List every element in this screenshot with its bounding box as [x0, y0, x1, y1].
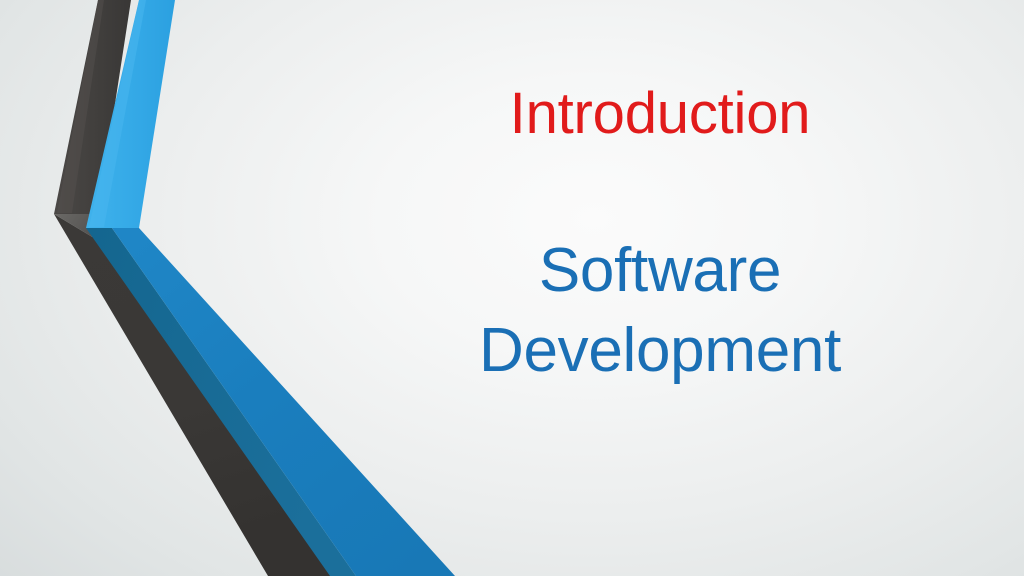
presentation-slide: Introduction Software Development [0, 0, 1024, 576]
slide-heading: Introduction [340, 60, 980, 145]
slide-title-line-2: Development [340, 311, 980, 392]
slide-title-line-1: Software [340, 231, 980, 312]
dark-gray-ribbon [54, 0, 340, 576]
slide-text-block: Introduction Software Development [340, 60, 980, 392]
slide-title: Software Development [340, 231, 980, 392]
text-spacer [340, 145, 980, 231]
